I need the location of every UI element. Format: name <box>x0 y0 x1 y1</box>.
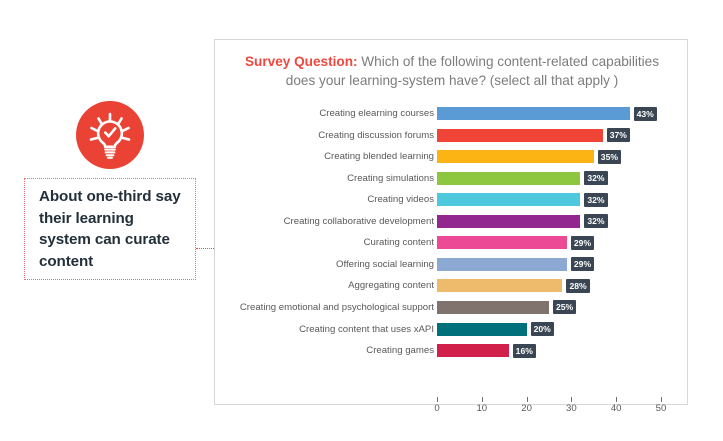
bar-value-badge: 20% <box>531 322 554 336</box>
bar-row: Creating blended learning35% <box>215 150 689 172</box>
bar-value-badge: 32% <box>584 214 607 228</box>
bar-category-label: Creating games <box>204 344 434 357</box>
x-axis-tick-label: 50 <box>656 403 667 414</box>
bar-row: Creating games16% <box>215 344 689 366</box>
insight-callout-text: About one-third say their learning syste… <box>25 186 195 272</box>
chart-panel: Survey Question: Which of the following … <box>214 39 688 405</box>
bar-value-badge: 32% <box>584 171 607 185</box>
bar <box>437 258 567 271</box>
bar-category-label: Creating simulations <box>204 172 434 185</box>
bar-category-label: Creating content that uses xAPI <box>204 323 434 336</box>
bar <box>437 215 580 228</box>
bar-value-badge: 16% <box>513 344 536 358</box>
bar-value-badge: 32% <box>584 193 607 207</box>
x-axis-tick-mark <box>527 397 528 402</box>
bar-category-label: Aggregating content <box>204 279 434 292</box>
bar-category-label: Creating videos <box>204 193 434 206</box>
bar-row: Offering social learning29% <box>215 258 689 280</box>
bar-category-label: Creating collaborative development <box>204 215 434 228</box>
bar-row: Creating simulations32% <box>215 172 689 194</box>
x-axis-tick-label: 20 <box>521 403 532 414</box>
bar-value-badge: 25% <box>553 300 576 314</box>
bar <box>437 129 603 142</box>
bar-row: Creating content that uses xAPI20% <box>215 323 689 345</box>
x-axis-tick-label: 40 <box>611 403 622 414</box>
bar-category-label: Curating content <box>204 236 434 249</box>
x-axis-tick-label: 30 <box>566 403 577 414</box>
bar-row: Creating videos32% <box>215 193 689 215</box>
check-icon <box>105 128 115 136</box>
x-axis-tick-mark <box>437 397 438 402</box>
bar-value-badge: 29% <box>571 236 594 250</box>
bar <box>437 150 594 163</box>
bar-row: Aggregating content28% <box>215 279 689 301</box>
bar-value-badge: 37% <box>607 128 630 142</box>
bar-category-label: Creating blended learning <box>204 150 434 163</box>
bar-row: Curating content29% <box>215 236 689 258</box>
insight-callout-box: About one-third say their learning syste… <box>24 178 196 280</box>
bar-category-label: Creating discussion forums <box>204 129 434 142</box>
bar-row: Creating elearning courses43% <box>215 107 689 129</box>
bar <box>437 172 580 185</box>
x-axis-tick-mark <box>482 397 483 402</box>
bar <box>437 193 580 206</box>
x-axis: 01020304050 <box>215 397 689 423</box>
bar-value-badge: 29% <box>571 257 594 271</box>
x-axis-tick-mark <box>616 397 617 402</box>
bar-row: Creating collaborative development32% <box>215 215 689 237</box>
bar <box>437 279 562 292</box>
bar-chart-plot: Creating elearning courses43%Creating di… <box>215 40 689 406</box>
insight-icon-circle <box>76 101 144 169</box>
x-axis-tick-label: 0 <box>434 403 439 414</box>
bar <box>437 323 527 336</box>
x-axis-tick-mark <box>571 397 572 402</box>
bar <box>437 236 567 249</box>
x-axis-tick-mark <box>661 397 662 402</box>
bar-category-label: Offering social learning <box>204 258 434 271</box>
bar-value-badge: 28% <box>566 279 589 293</box>
bar <box>437 344 509 357</box>
bar-category-label: Creating emotional and psychological sup… <box>204 301 434 314</box>
lightbulb-check-icon <box>76 101 144 169</box>
bar-category-label: Creating elearning courses <box>204 107 434 120</box>
bar-row: Creating discussion forums37% <box>215 129 689 151</box>
bar <box>437 301 549 314</box>
bar-row: Creating emotional and psychological sup… <box>215 301 689 323</box>
bar-value-badge: 43% <box>634 107 657 121</box>
bar <box>437 107 630 120</box>
bar-value-badge: 35% <box>598 150 621 164</box>
x-axis-tick-label: 10 <box>476 403 487 414</box>
